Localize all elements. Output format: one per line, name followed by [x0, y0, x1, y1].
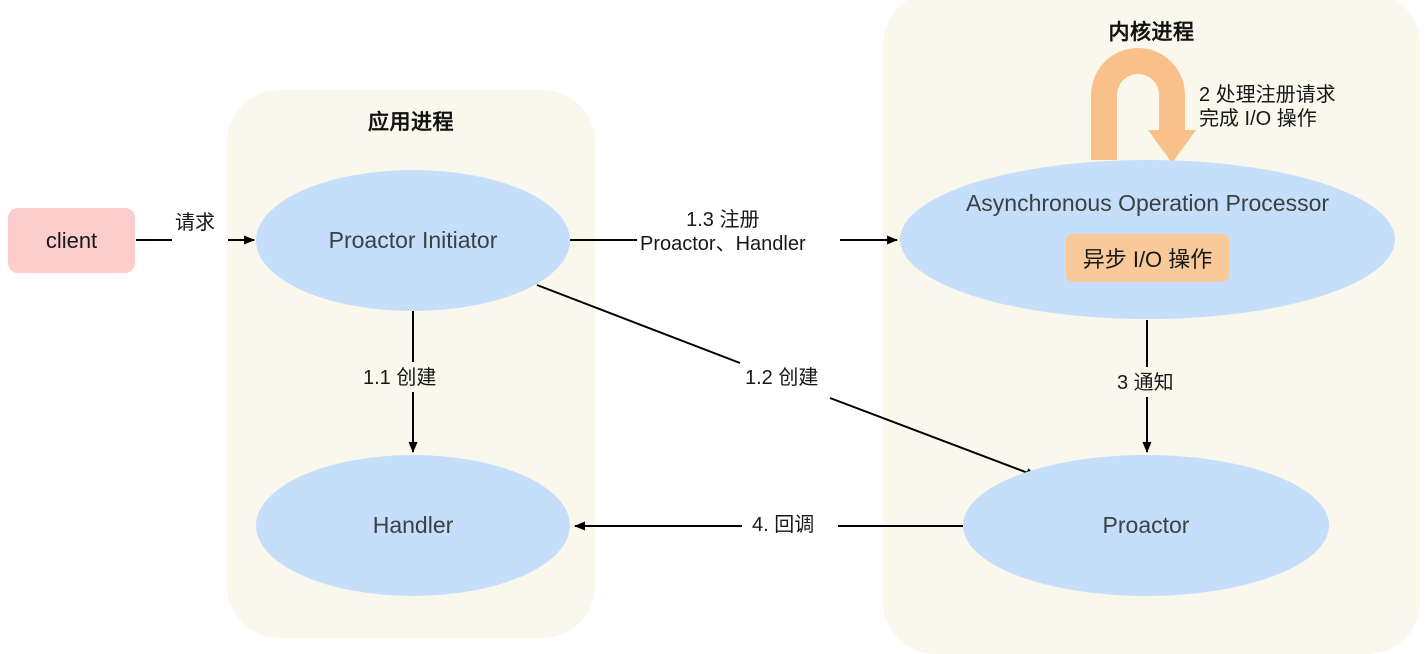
edge-label-process-request-line1: 2 处理注册请求: [1199, 83, 1336, 107]
node-client-label: client: [46, 228, 97, 254]
node-proactor[interactable]: Proactor: [963, 455, 1329, 596]
edge-label-register-line2: Proactor、Handler: [640, 232, 806, 256]
node-aop-label: Asynchronous Operation Processor: [966, 190, 1329, 217]
node-client[interactable]: client: [8, 208, 135, 273]
edge-label-create-handler: 1.1 创建: [360, 365, 439, 391]
node-handler-label: Handler: [373, 512, 454, 539]
node-proactor-label: Proactor: [1103, 512, 1190, 539]
edge-label-request: 请求: [172, 210, 218, 236]
async-io-chip[interactable]: 异步 I/O 操作: [1066, 234, 1230, 282]
node-asynchronous-operation-processor[interactable]: Asynchronous Operation Processor 异步 I/O …: [900, 160, 1395, 319]
edge-label-callback: 4. 回调: [749, 512, 817, 538]
diagram-canvas: 应用进程 内核进程: [0, 0, 1427, 654]
loop-arrow-icon: [1104, 61, 1196, 163]
edge-label-register: 1.3 注册 Proactor、Handler: [637, 207, 809, 258]
node-handler[interactable]: Handler: [256, 455, 570, 596]
node-proactor-initiator-label: Proactor Initiator: [329, 227, 498, 254]
edge-label-create-proactor: 1.2 创建: [742, 365, 821, 391]
node-proactor-initiator[interactable]: Proactor Initiator: [256, 170, 570, 311]
edge-label-process-request: 2 处理注册请求 完成 I/O 操作: [1196, 82, 1339, 133]
edge-label-process-request-line2: 完成 I/O 操作: [1199, 107, 1336, 131]
edge-label-register-line1: 1.3 注册: [640, 208, 806, 232]
edge-label-notify: 3 通知: [1114, 370, 1177, 396]
